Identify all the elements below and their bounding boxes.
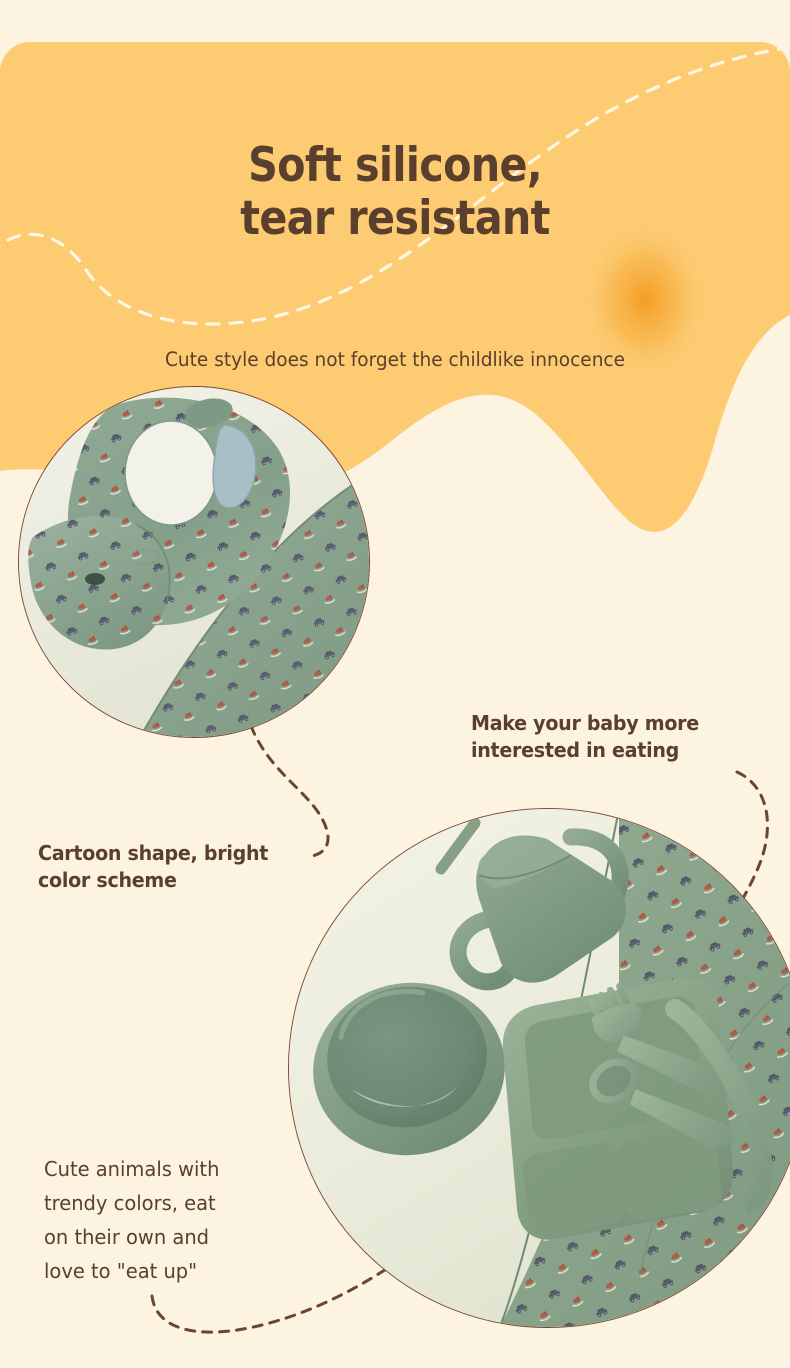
bib-drain-hole bbox=[85, 573, 105, 585]
page-subtitle: Cute style does not forget the childlike… bbox=[20, 348, 771, 371]
photo-bib-circle bbox=[18, 386, 370, 738]
callout-cartoon-shape: Cartoon shape, bright color scheme bbox=[38, 840, 268, 895]
dinnerware-photo-illustration bbox=[289, 809, 790, 1328]
callout-interested-in-eating: Make your baby more interested in eating bbox=[471, 710, 699, 765]
callout-cute-animals: Cute animals with trendy colors, eat on … bbox=[44, 1152, 219, 1288]
photo-dinnerware-circle bbox=[288, 808, 790, 1328]
bib-photo-illustration bbox=[19, 387, 370, 738]
page-title: Soft silicone, tear resistant bbox=[47, 140, 742, 245]
product-infographic-page: Soft silicone, tear resistant Cute style… bbox=[0, 0, 790, 1368]
